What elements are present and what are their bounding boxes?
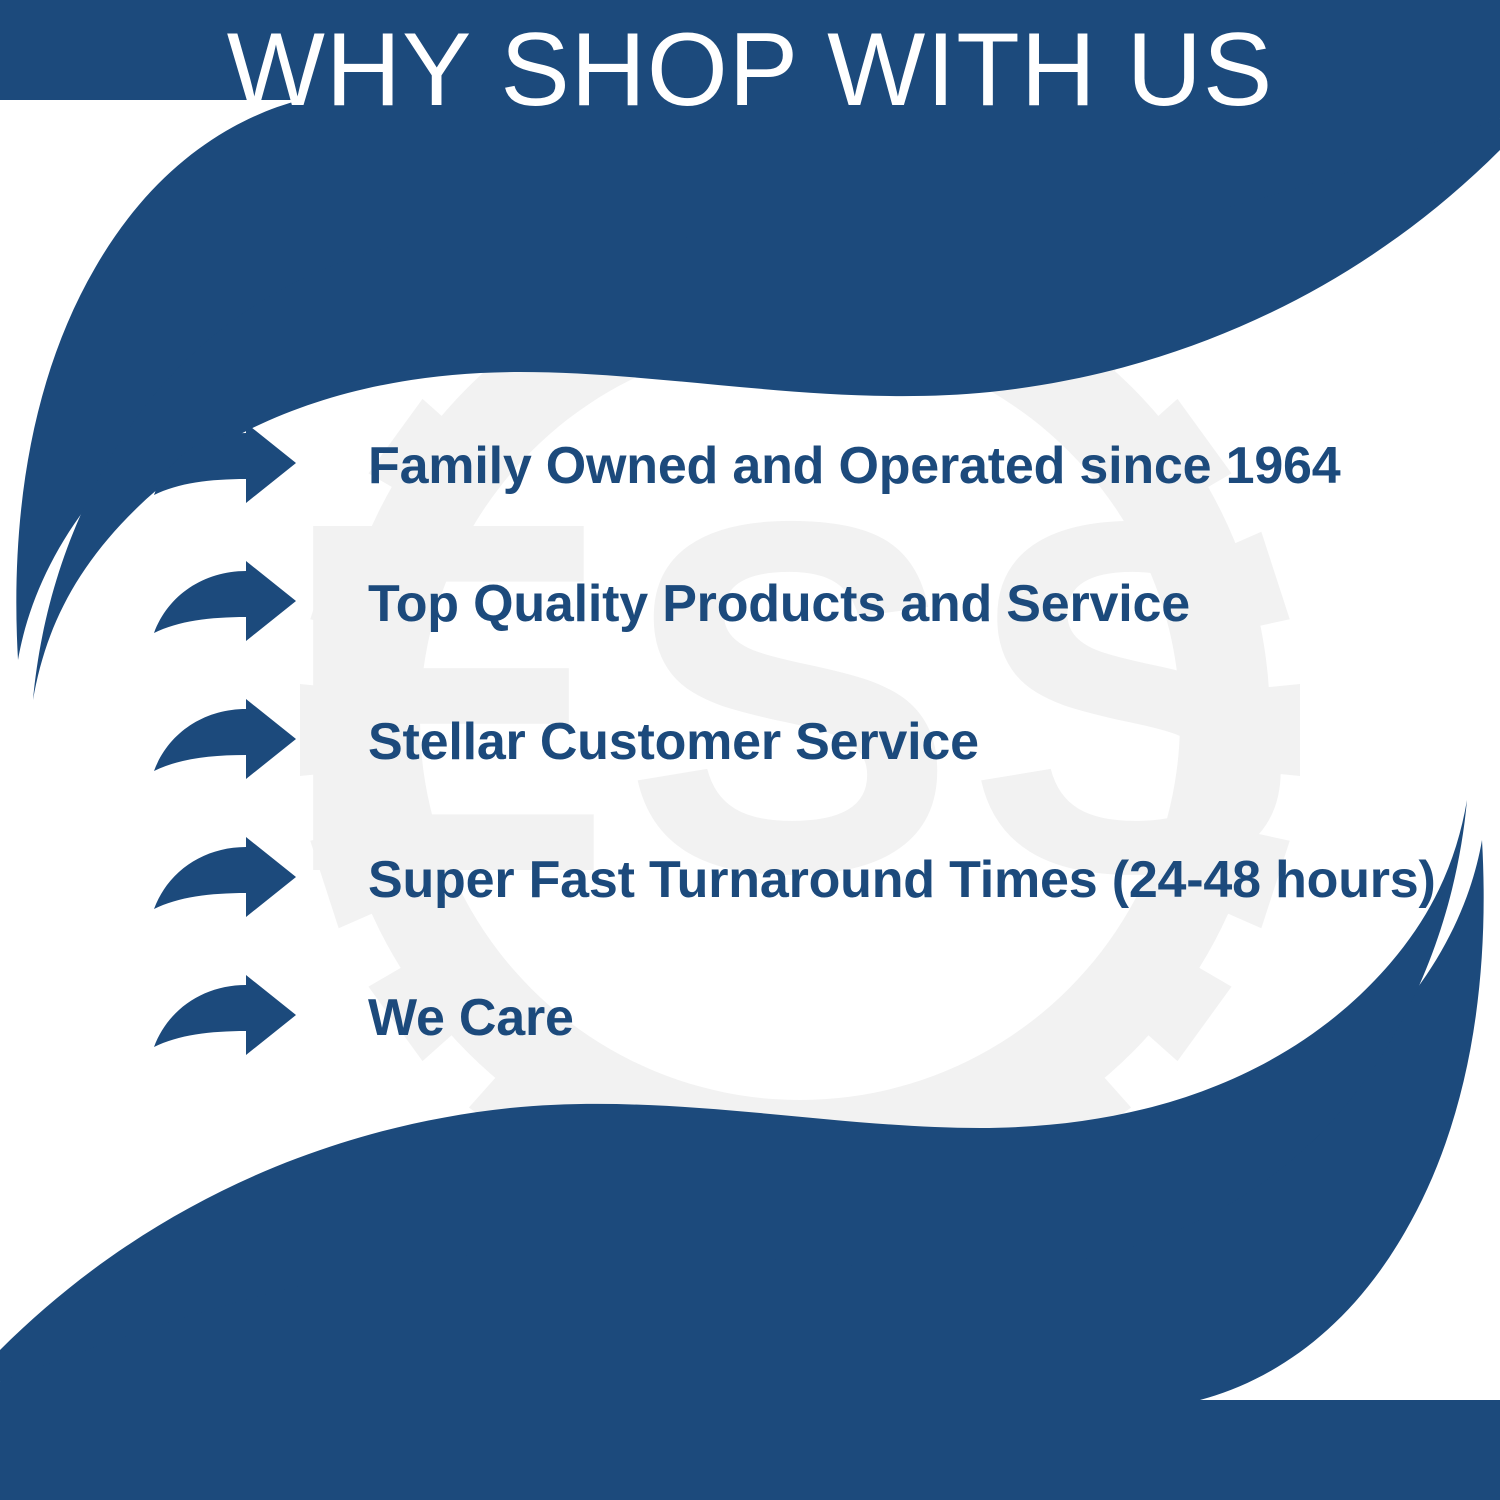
list-item: Top Quality Products and Service <box>0 556 1500 652</box>
benefit-label: Stellar Customer Service <box>368 715 979 770</box>
promo-poster: ESS WHY SHOP WITH US Family Owned and Op… <box>0 0 1500 1500</box>
list-item: Family Owned and Operated since 1964 <box>0 418 1500 514</box>
benefits-list: Family Owned and Operated since 1964 Top… <box>0 418 1500 1066</box>
page-title: WHY SHOP WITH US <box>227 0 1273 122</box>
curved-arrow-right-icon <box>152 975 298 1061</box>
list-item: Super Fast Turnaround Times (24-48 hours… <box>0 832 1500 928</box>
curved-arrow-right-icon <box>152 561 298 647</box>
benefit-label: Family Owned and Operated since 1964 <box>368 439 1341 494</box>
curved-arrow-right-icon <box>152 423 298 509</box>
list-item: Stellar Customer Service <box>0 694 1500 790</box>
benefit-label: We Care <box>368 991 574 1046</box>
curved-arrow-right-icon <box>152 837 298 923</box>
benefit-label: Super Fast Turnaround Times (24-48 hours… <box>368 853 1436 908</box>
poster-header: WHY SHOP WITH US <box>0 0 1500 150</box>
list-item: We Care <box>0 970 1500 1066</box>
benefit-label: Top Quality Products and Service <box>368 577 1190 632</box>
curved-arrow-right-icon <box>152 699 298 785</box>
